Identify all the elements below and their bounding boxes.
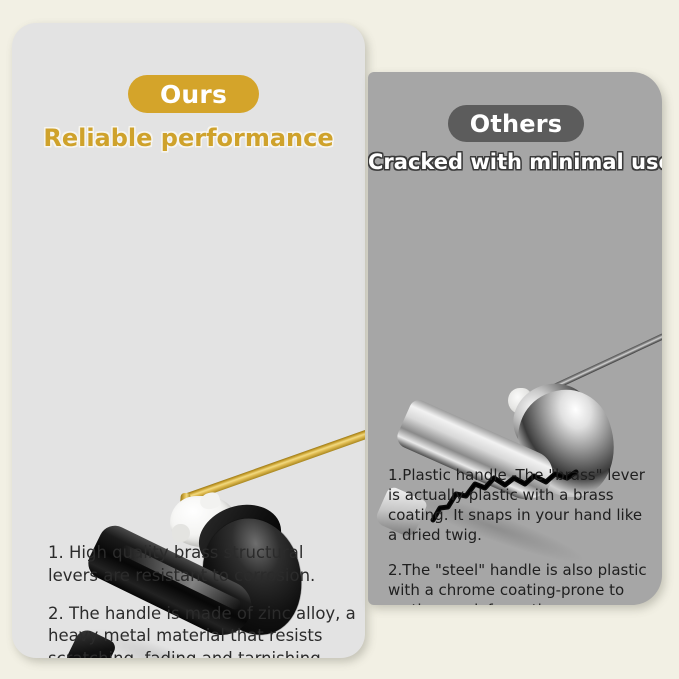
others-panel: Others Cracked with minimal use 1.Plasti… xyxy=(368,72,662,605)
ours-bullet-2: 2. The handle is made of zinc alloy, a h… xyxy=(48,603,358,658)
others-bullet-2: 2.The "steel" handle is also plastic wit… xyxy=(388,561,653,605)
nut-tab-lower xyxy=(172,524,190,542)
ours-panel: Ours Reliable performance 1. High qualit… xyxy=(12,23,365,658)
others-product-photo xyxy=(368,192,662,472)
others-drawback-list: 1.Plastic handle -The "brass" lever is a… xyxy=(388,466,653,605)
comparison-infographic: Ours Reliable performance 1. High qualit… xyxy=(0,0,679,679)
ours-subtitle: Reliable performance xyxy=(12,124,365,152)
others-subtitle: Cracked with minimal use xyxy=(368,150,662,174)
others-bullet-1: 1.Plastic handle -The "brass" lever is a… xyxy=(388,466,653,546)
ours-benefit-list: 1. High quality brass structural levers … xyxy=(48,542,358,658)
ours-bullet-1: 1. High quality brass structural levers … xyxy=(48,542,358,588)
ours-badge: Ours xyxy=(128,75,259,113)
ours-badge-label: Ours xyxy=(160,80,227,109)
ours-product-photo xyxy=(12,208,365,528)
others-badge: Others xyxy=(448,105,584,142)
brass-rod xyxy=(183,424,365,503)
others-badge-label: Others xyxy=(470,110,563,138)
